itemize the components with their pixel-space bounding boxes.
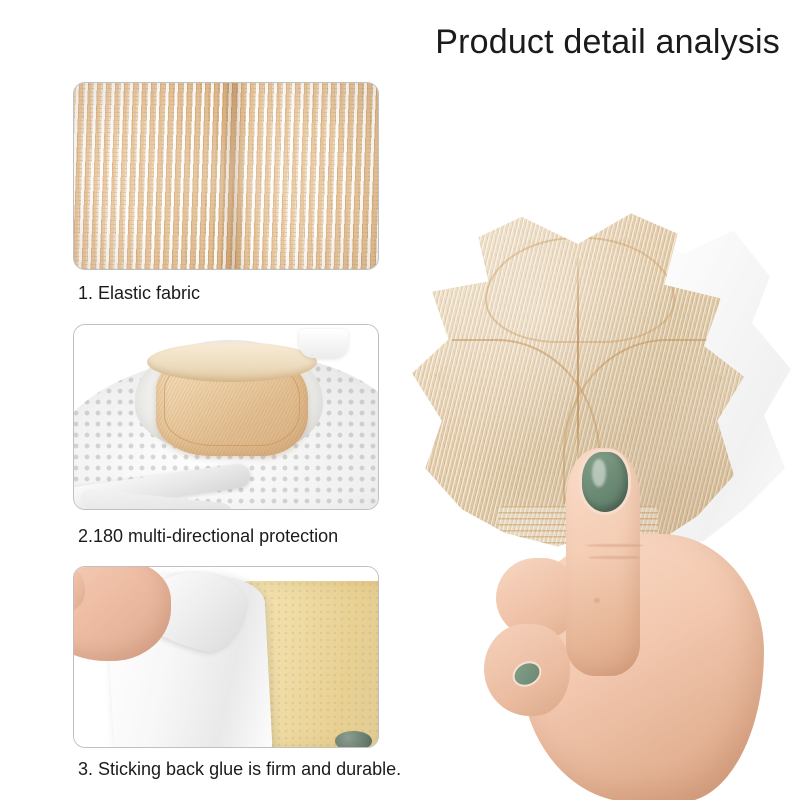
- product-detail-page: Product detail analysis 1. Elastic fabri…: [0, 0, 800, 800]
- thumb-crease-1: [586, 544, 644, 547]
- insert-top-lip: [147, 342, 317, 382]
- caption-multi-directional-protection: 2.180 multi-directional protection: [78, 524, 338, 548]
- sneaker-heel-tab: [299, 329, 348, 358]
- hand-holding-pad: [490, 448, 780, 800]
- thumb-mole: [594, 598, 600, 603]
- fabric-vignette: [74, 83, 378, 269]
- thumb-nail-lower: [335, 731, 371, 747]
- detail-image-sticking-back-glue[interactable]: [73, 566, 379, 748]
- hero-product-photo: [398, 196, 794, 800]
- caption-elastic-fabric: 1. Elastic fabric: [78, 281, 200, 305]
- peeling-backing-paper-photo: [74, 567, 378, 747]
- detail-image-elastic-fabric[interactable]: [73, 82, 379, 270]
- thumb-nail: [582, 452, 628, 512]
- elastic-fabric-photo: [74, 83, 378, 269]
- thumb-crease-2: [588, 556, 640, 559]
- detail-image-multi-directional-protection[interactable]: [73, 324, 379, 510]
- caption-sticking-back-glue: 3. Sticking back glue is firm and durabl…: [78, 757, 401, 781]
- finger: [74, 567, 92, 619]
- shoe-heel-insert-photo: [74, 325, 378, 509]
- page-title: Product detail analysis: [435, 20, 780, 64]
